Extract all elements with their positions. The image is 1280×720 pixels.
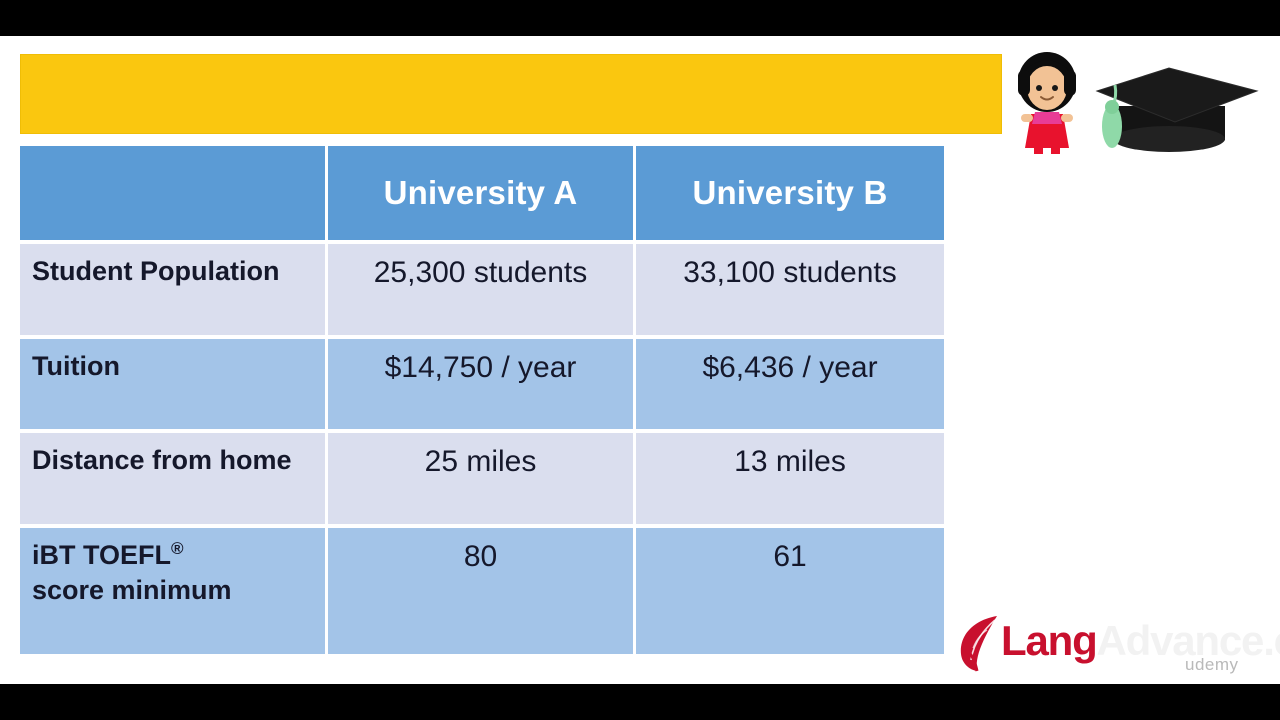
cell-student-population-university-a: 25,300 students [328,244,636,339]
cell-tuition-university-a: $14,750 / year [328,339,636,433]
row-label-tuition: Tuition [20,339,328,433]
clipart-group [1005,44,1265,154]
logo-provider-label: udemy [1185,656,1239,674]
student-girl-icon [1018,52,1076,154]
slide-root: University A University B Student Popula… [0,0,1280,720]
cell-toefl-university-b: 61 [636,528,944,658]
toefl-label-line-2: score minimum [32,575,232,605]
table-row: iBT TOEFL® score minimum 80 61 [20,528,944,658]
logo-word-lang: Lang [1001,617,1097,664]
table-row: Student Population 25,300 students 33,10… [20,244,944,339]
registered-trademark-icon: ® [171,539,184,558]
cell-student-population-university-b: 33,100 students [636,244,944,339]
leaf-logo-icon [957,614,1003,672]
slide-canvas: University A University B Student Popula… [0,36,1280,684]
watermark-logo: LangAdvance.com udemy [957,612,1267,676]
video-letterbox-top [0,0,1280,36]
row-label-student-population: Student Population [20,244,328,339]
row-label-toefl-score-minimum: iBT TOEFL® score minimum [20,528,328,658]
video-letterbox-bottom [0,684,1280,720]
column-header-university-a: University A [328,146,636,244]
column-header-university-b: University B [636,146,944,244]
cell-distance-university-a: 25 miles [328,433,636,528]
cell-toefl-university-a: 80 [328,528,636,658]
row-label-distance-from-home: Distance from home [20,433,328,528]
clipart-svg [1005,44,1265,154]
comparison-table: University A University B Student Popula… [20,146,944,658]
title-banner-text [21,55,1001,133]
toefl-label-line-1: iBT TOEFL [32,540,171,570]
table-header-row: University A University B [20,146,944,244]
graduation-cap-icon [1097,68,1257,152]
cell-distance-university-b: 13 miles [636,433,944,528]
title-banner [20,54,1002,134]
table-row: Tuition $14,750 / year $6,436 / year [20,339,944,433]
cell-tuition-university-b: $6,436 / year [636,339,944,433]
column-header-blank [20,146,328,244]
table-row: Distance from home 25 miles 13 miles [20,433,944,528]
